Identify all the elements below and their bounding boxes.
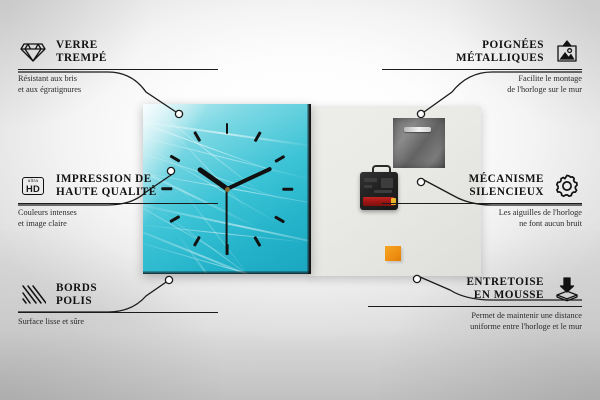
ultra-hd-icon-large-text: HD — [26, 184, 40, 193]
ultra-hd-icon: ultra HD — [18, 172, 48, 200]
foam-spacer-arrow-icon — [552, 275, 582, 303]
glass-edge-right — [307, 104, 311, 274]
feature-subtitle: Surface lisse et sûre — [18, 317, 218, 328]
feature-subtitle: Facilite le montagede l'horloge sur le m… — [382, 74, 582, 95]
clock-marker — [253, 131, 261, 142]
clock-minute-hand — [226, 166, 272, 190]
feature-header: VERRETREMPÉ — [18, 38, 218, 66]
picture-frame-hanger-icon — [552, 38, 582, 66]
feature-impression-haute-qualite: ultra HD IMPRESSION DEHAUTE QUALITÉ Coul… — [18, 172, 218, 229]
feature-title: BORDSPOLIS — [56, 282, 97, 309]
feature-title: POIGNÉESMÉTALLIQUES — [456, 39, 544, 66]
polished-edges-icon — [18, 281, 48, 309]
feature-mecanisme-silencieux: MÉCANISMESILENCIEUX Les aiguilles de l'h… — [382, 172, 582, 229]
feature-rule — [18, 69, 218, 70]
feature-header: ENTRETOISEEN MOUSSE — [368, 275, 582, 303]
metal-hanger-plate — [393, 118, 445, 168]
clock-marker — [226, 123, 229, 134]
feature-poignees-metalliques: POIGNÉESMÉTALLIQUES Facilite le montaged… — [382, 38, 582, 95]
feature-rule — [18, 203, 218, 204]
clock-marker — [169, 155, 180, 163]
feature-header: ultra HD IMPRESSION DEHAUTE QUALITÉ — [18, 172, 218, 200]
feature-title: IMPRESSION DEHAUTE QUALITÉ — [56, 173, 157, 200]
mechanism-detail — [364, 178, 377, 182]
gear-icon — [552, 172, 582, 200]
diamond-icon — [18, 38, 48, 66]
feature-header: POIGNÉESMÉTALLIQUES — [382, 38, 582, 66]
bottom-shade — [0, 330, 600, 400]
product-infographic: VERRETREMPÉ Résistant aux briset aux égr… — [0, 0, 600, 400]
feature-rule — [382, 203, 582, 204]
feature-title: MÉCANISMESILENCIEUX — [469, 173, 544, 200]
clock-marker — [274, 155, 285, 163]
clock-marker — [193, 236, 201, 247]
feature-rule — [382, 69, 582, 70]
foam-spacer — [385, 246, 401, 261]
feature-title: VERRETREMPÉ — [56, 39, 107, 66]
glass-edge-bottom — [143, 271, 311, 274]
feature-subtitle: Résistant aux briset aux égratignures — [18, 74, 218, 95]
feature-verre-trempe: VERRETREMPÉ Résistant aux briset aux égr… — [18, 38, 218, 95]
feature-bords-polis: BORDSPOLIS Surface lisse et sûre — [18, 281, 218, 328]
clock-marker — [274, 215, 285, 223]
feature-rule — [18, 312, 218, 313]
feature-subtitle: Couleurs intenseset image claire — [18, 208, 218, 229]
clock-marker — [193, 131, 201, 142]
feature-subtitle: Les aiguilles de l'horlogene font aucun … — [382, 208, 582, 229]
feature-header: BORDSPOLIS — [18, 281, 218, 309]
mechanism-detail — [364, 185, 372, 188]
clock-marker — [253, 236, 261, 247]
feature-entretoise-en-mousse: ENTRETOISEEN MOUSSE Permet de maintenir … — [368, 275, 582, 332]
feature-subtitle: Permet de maintenir une distanceuniforme… — [368, 311, 582, 332]
clock-center-cap — [225, 187, 230, 192]
feature-header: MÉCANISMESILENCIEUX — [382, 172, 582, 200]
hanger-slot — [404, 127, 431, 132]
clock-second-hand — [226, 189, 228, 247]
feature-rule — [368, 306, 582, 307]
feature-title: ENTRETOISEEN MOUSSE — [466, 276, 544, 303]
clock-marker — [282, 188, 293, 191]
